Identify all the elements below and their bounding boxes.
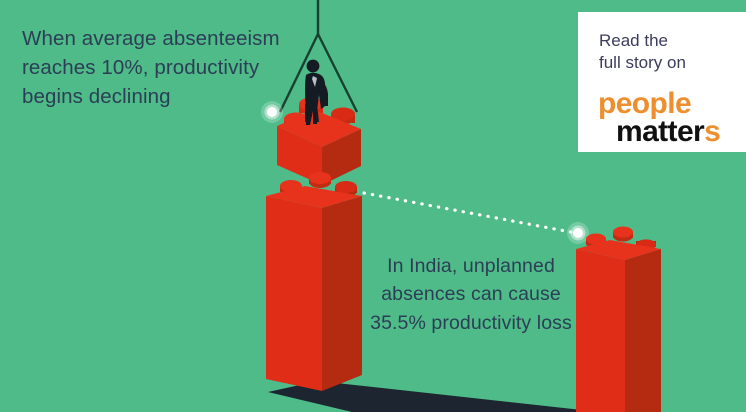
tall-brick-stud [335, 181, 357, 193]
logo-word-matters: matters [616, 118, 720, 146]
brand-panel[interactable]: Read the full story on people matters [578, 12, 746, 152]
tall-brick-front [266, 196, 322, 391]
tall-brick [266, 172, 362, 391]
read-full-story-label: Read the full story on [599, 30, 686, 75]
logo-word-matters-tail: s [704, 115, 720, 148]
logo-word-people: people [598, 90, 720, 118]
tall-brick-stud [309, 172, 331, 184]
short-brick-side [625, 249, 661, 412]
marker-dot-short-brick [567, 222, 589, 244]
dotted-connector-line [364, 193, 576, 233]
caption-text: In India, unplanned absences can cause 3… [352, 252, 590, 337]
headline-text: When average absenteeism reaches 10%, pr… [22, 24, 312, 111]
infographic-canvas: When average absenteeism reaches 10%, pr… [0, 0, 746, 412]
logo-word-matters-main: matter [616, 115, 704, 148]
people-matters-logo[interactable]: people matters [598, 90, 720, 145]
short-brick-stud [613, 227, 633, 238]
